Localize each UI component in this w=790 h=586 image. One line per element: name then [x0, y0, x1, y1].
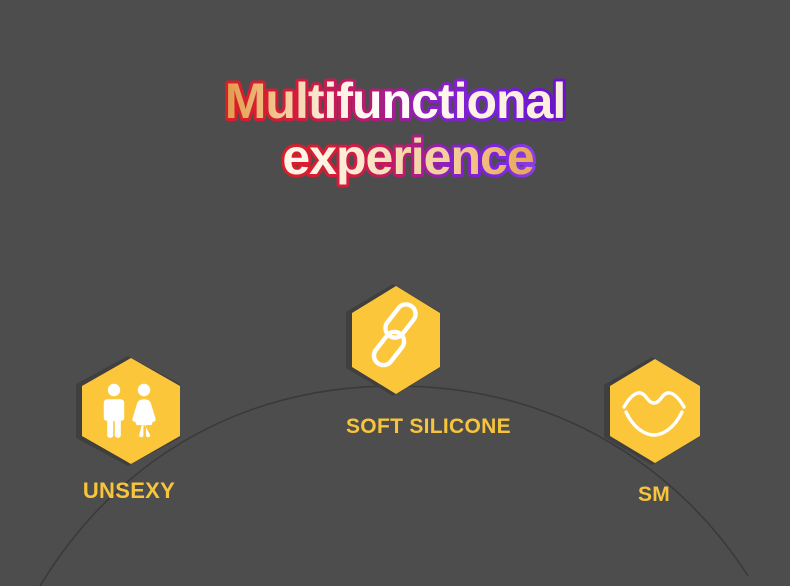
node-unsexy[interactable]: UNSEXY [76, 354, 184, 502]
node-sm[interactable]: SM [604, 355, 704, 505]
hexagon-sm-shape [604, 355, 704, 465]
hexagon-sm[interactable] [604, 355, 704, 465]
infographic-canvas: Multifunctional experience [0, 0, 790, 586]
node-soft-silicone[interactable]: SOFT SILICONE [346, 282, 444, 437]
node-sm-label: SM [604, 484, 704, 505]
node-unsexy-label: UNSEXY [74, 480, 184, 502]
hexagon-unsexy-shape [76, 354, 184, 466]
hexagon-soft-silicone[interactable] [346, 282, 444, 398]
node-soft-silicone-label: SOFT SILICONE [346, 416, 444, 437]
hexagon-soft-silicone-shape [346, 282, 444, 398]
hexagon-unsexy[interactable] [76, 354, 184, 466]
